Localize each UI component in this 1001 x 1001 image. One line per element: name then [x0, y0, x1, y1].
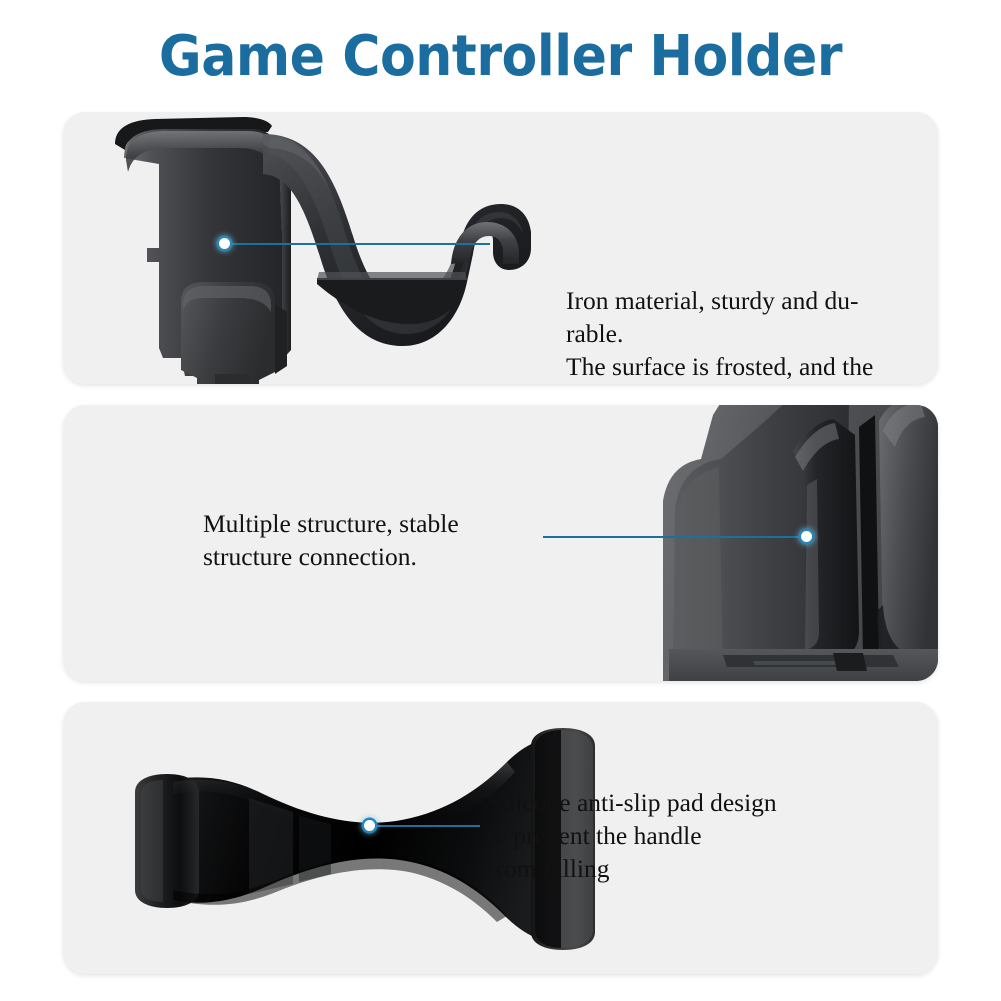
callout-line-1 [232, 243, 490, 245]
feature-text-1: Iron material, sturdy and du- rable. The… [566, 284, 938, 384]
feature-card-1: Iron material, sturdy and du- rable. The… [63, 112, 938, 384]
page-title: Game Controller Holder [35, 26, 966, 88]
feature-text-3: Silicone anti-slip pad design to prevent… [487, 786, 907, 885]
callout-dot-1 [219, 238, 230, 249]
callout-line-2 [543, 536, 806, 538]
callout-line-3 [375, 825, 480, 827]
callout-dot-2 [801, 531, 812, 542]
feature-text-2: Multiple structure, stable structure con… [203, 507, 583, 573]
callout-dot-3 [364, 820, 375, 831]
